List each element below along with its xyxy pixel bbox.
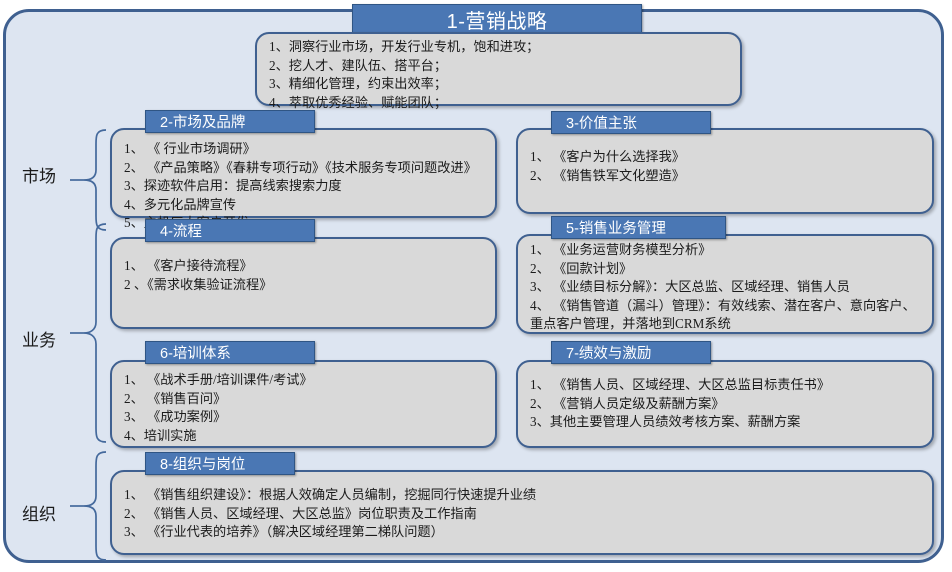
summary-lines: 1、洞察行业市场，开发行业专机，饱和进攻； 2、挖人才、建队伍、搭平台； 3、精… (257, 34, 740, 116)
section-header-label: 4-流程 (160, 220, 202, 241)
section-lines: 1、 《客户接待流程》 2 、《需求收集验证流程》 (112, 239, 495, 298)
section-line: 1、 《客户接待流程》 (124, 257, 485, 276)
section-header-label: 6-培训体系 (160, 342, 231, 363)
summary-line: 1、洞察行业市场，开发行业专机，饱和进攻； (269, 38, 730, 57)
section-lines: 1、 《销售组织建设》：根据人效确定人员编制，挖掘同行快速提升业绩 2、 《销售… (112, 472, 932, 546)
group-label-market: 市场 (22, 162, 56, 187)
section-lines: 1、 《销售人员、区域经理、大区总监目标责任书》 2、 《营销人员定级及薪酬方案… (518, 362, 932, 436)
section-line: 1、 《销售人员、区域经理、大区总监目标责任书》 (530, 376, 922, 395)
section-line: 2、 《销售人员、区域经理、大区总监》岗位职责及工作指南 (124, 505, 922, 524)
section-box-sales-business-management: 1、 《业务运营财务模型分析》 2、 《回款计划》 3、 《业绩目标分解》：大区… (516, 234, 934, 334)
section-header-training-system[interactable]: 6-培训体系 (145, 341, 315, 364)
section-line: 1、 《 行业市场调研》 (124, 140, 485, 159)
section-header-performance-incentive[interactable]: 7-绩效与激励 (551, 341, 711, 364)
section-line: 2、 《销售铁军文化塑造》 (530, 167, 922, 186)
section-line: 4、培训实施 (124, 427, 485, 446)
section-header-label: 5-销售业务管理 (566, 217, 666, 238)
section-line: 2、 《产品策略》《春耕专项行动》《技术服务专项问题改进》 (124, 159, 485, 178)
section-line: 4、多元化品牌宣传 (124, 196, 485, 215)
summary-line: 2、挖人才、建队伍、搭平台； (269, 57, 730, 76)
section-line: 2、 《销售百问》 (124, 390, 485, 409)
section-line: 1、 《销售组织建设》：根据人效确定人员编制，挖掘同行快速提升业绩 (124, 486, 922, 505)
section-line: 3、探迹软件启用：提高线索搜索力度 (124, 177, 485, 196)
section-header-value-proposition[interactable]: 3-价值主张 (551, 111, 711, 134)
section-line: 3、 《成功案例》 (124, 408, 485, 427)
summary-box: 1、洞察行业市场，开发行业专机，饱和进攻； 2、挖人才、建队伍、搭平台； 3、精… (255, 32, 742, 106)
group-label-business: 业务 (22, 326, 56, 351)
section-header-label: 8-组织与岗位 (160, 453, 245, 474)
section-line: 2、 《回款计划》 (530, 260, 922, 279)
section-lines: 1、 《战术手册/培训课件/考试》 2、 《销售百问》 3、 《成功案例》 4、… (112, 362, 495, 449)
section-header-process[interactable]: 4-流程 (145, 219, 315, 242)
section-line: 1、 《客户为什么选择我》 (530, 148, 922, 167)
summary-line: 3、精细化管理，约束出效率； (269, 75, 730, 94)
section-line: 2 、《需求收集验证流程》 (124, 276, 485, 295)
section-box-process: 1、 《客户接待流程》 2 、《需求收集验证流程》 (110, 237, 497, 329)
section-line: 1、 《业务运营财务模型分析》 (530, 241, 922, 260)
summary-line: 4、萃取优秀经验、赋能团队； (269, 94, 730, 113)
section-lines: 1、 《客户为什么选择我》 2、 《销售铁军文化塑造》 (518, 130, 932, 189)
section-line: 2、 《营销人员定级及薪酬方案》 (530, 395, 922, 414)
section-line: 3、 《业绩目标分解》：大区总监、区域经理、销售人员 (530, 278, 922, 297)
section-header-label: 7-绩效与激励 (566, 342, 651, 363)
section-line: 3、 《行业代表的培养》（解决区域经理第二梯队问题） (124, 523, 922, 542)
diagram-title-label: 1-营销战略 (447, 5, 548, 34)
slide-canvas: 1-营销战略 1、洞察行业市场，开发行业专机，饱和进攻； 2、挖人才、建队伍、搭… (0, 0, 952, 572)
section-line: 1、 《战术手册/培训课件/考试》 (124, 371, 485, 390)
diagram-title: 1-营销战略 (352, 4, 642, 34)
section-box-value-proposition: 1、 《客户为什么选择我》 2、 《销售铁军文化塑造》 (516, 128, 934, 214)
section-box-training-system: 1、 《战术手册/培训课件/考试》 2、 《销售百问》 3、 《成功案例》 4、… (110, 360, 497, 448)
section-box-market-brand: 1、 《 行业市场调研》 2、 《产品策略》《春耕专项行动》《技术服务专项问题改… (110, 128, 497, 218)
section-header-sales-business-management[interactable]: 5-销售业务管理 (551, 216, 726, 239)
group-label-organization: 组织 (22, 500, 56, 525)
brace-business (70, 222, 108, 446)
section-line: 4、 《销售管道（漏斗）管理》：有效线索、潜在客户、意向客户、重点客户管理，并落… (530, 297, 922, 334)
brace-organization (70, 450, 108, 563)
section-header-label: 3-价值主张 (566, 112, 637, 133)
section-header-organization-positions[interactable]: 8-组织与岗位 (145, 452, 295, 475)
section-header-market-brand[interactable]: 2-市场及品牌 (145, 110, 315, 133)
section-box-organization-positions: 1、 《销售组织建设》：根据人效确定人员编制，挖掘同行快速提升业绩 2、 《销售… (110, 470, 934, 555)
section-line: 3、其他主要管理人员绩效考核方案、薪酬方案 (530, 413, 922, 432)
section-header-label: 2-市场及品牌 (160, 111, 245, 132)
section-box-performance-incentive: 1、 《销售人员、区域经理、大区总监目标责任书》 2、 《营销人员定级及薪酬方案… (516, 360, 934, 448)
brace-market (70, 128, 108, 233)
section-lines: 1、 《业务运营财务模型分析》 2、 《回款计划》 3、 《业绩目标分解》：大区… (518, 236, 932, 338)
